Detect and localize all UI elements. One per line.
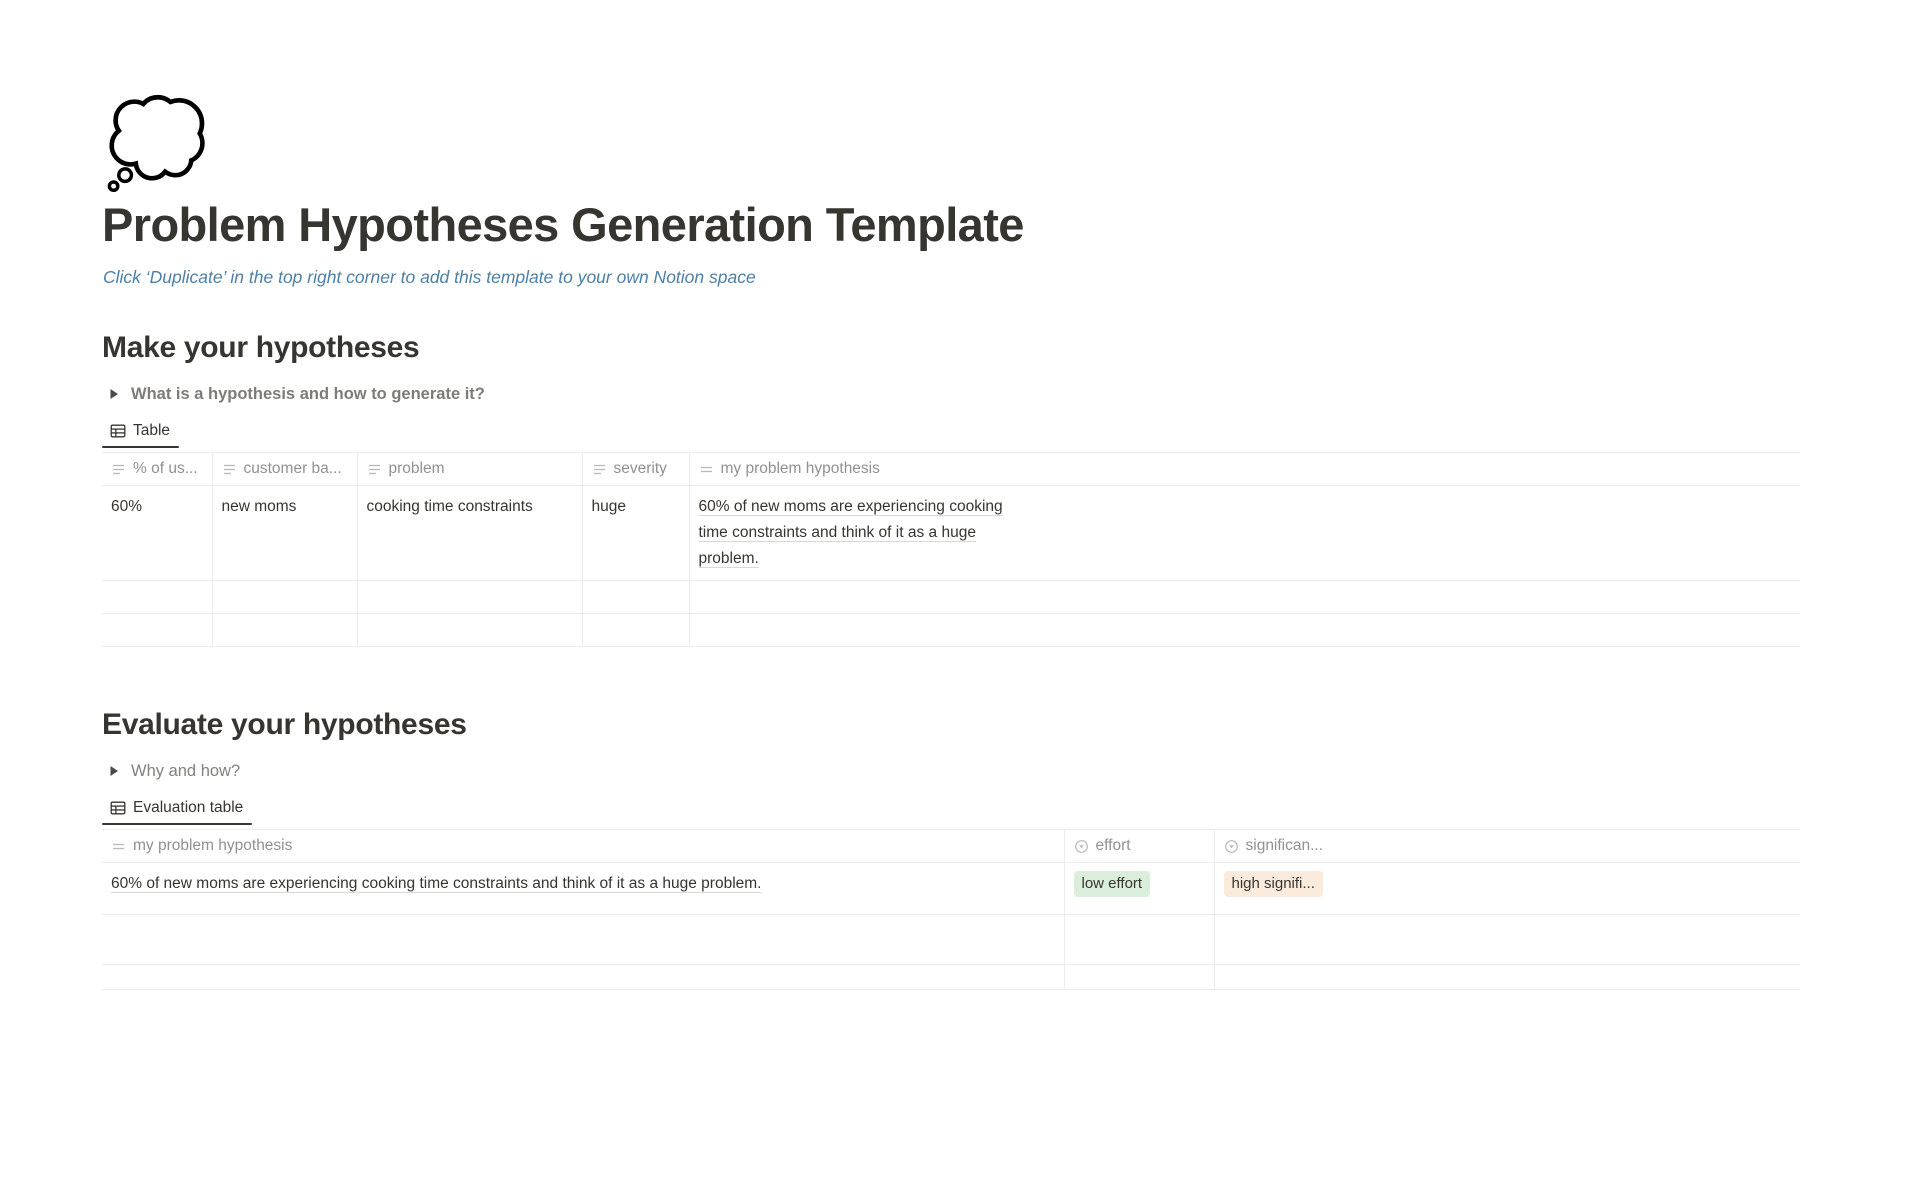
view-tab-label: Table [133, 420, 170, 442]
cell-problem[interactable] [357, 614, 582, 647]
toggle-label: Why and how? [131, 759, 240, 783]
view-tab-label: Evaluation table [133, 797, 243, 819]
database-view-tabs[interactable]: Table [102, 418, 179, 450]
toggle-label: What is a hypothesis and how to generate… [131, 382, 485, 406]
table-header-row: % of us... custom [102, 453, 1800, 486]
cell-percent-of-users[interactable] [102, 581, 212, 614]
cell-percent-of-users[interactable] [102, 614, 212, 647]
text-property-icon [367, 462, 382, 477]
cell-effort[interactable]: low effort [1064, 863, 1214, 915]
cell-percent-of-users[interactable]: 60% [102, 486, 212, 581]
column-header-label: my problem hypothesis [133, 836, 292, 856]
hypothesis-text: 60% of new moms are experiencing cooking… [111, 875, 762, 892]
toggle-why-and-how[interactable]: Why and how? [107, 758, 240, 784]
cell-effort[interactable] [1064, 915, 1214, 965]
column-header-label: my problem hypothesis [721, 459, 880, 479]
view-tab-evaluation-table[interactable]: Evaluation table [102, 795, 252, 821]
column-header-percent-of-users[interactable]: % of us... [102, 453, 212, 486]
cell-customer-base[interactable] [212, 614, 357, 647]
column-header-label: severity [614, 459, 667, 479]
evaluation-table: my problem hypothesis effort [102, 829, 1800, 990]
cell-severity[interactable] [582, 614, 689, 647]
column-header-label: significan... [1246, 836, 1324, 856]
notion-page: 💭 Problem Hypotheses Generation Template… [0, 0, 1920, 1199]
table-row[interactable] [102, 915, 1800, 965]
column-header-customer-base[interactable]: customer ba... [212, 453, 357, 486]
text-property-icon [222, 462, 237, 477]
cell-significance[interactable] [1214, 965, 1800, 990]
table-row[interactable]: 60% of new moms are experiencing cooking… [102, 863, 1800, 915]
cell-my-problem-hypothesis[interactable] [102, 915, 1064, 965]
cell-customer-base[interactable] [212, 581, 357, 614]
column-header-significance[interactable]: significan... [1214, 830, 1800, 863]
cell-significance[interactable] [1214, 915, 1800, 965]
column-header-label: problem [389, 459, 445, 479]
column-header-severity[interactable]: severity [582, 453, 689, 486]
cell-my-problem-hypothesis[interactable]: 60% of new moms are experiencing cooking… [102, 863, 1064, 915]
table-row[interactable] [102, 581, 1800, 614]
text-property-icon [592, 462, 607, 477]
section-heading-make-hypotheses[interactable]: Make your hypotheses [102, 329, 419, 367]
cell-customer-base[interactable]: new moms [212, 486, 357, 581]
cell-severity[interactable] [582, 581, 689, 614]
table-row[interactable] [102, 614, 1800, 647]
cell-my-problem-hypothesis[interactable] [102, 965, 1064, 990]
cell-my-problem-hypothesis[interactable] [689, 614, 1800, 647]
table-grid-icon [110, 800, 126, 816]
formula-property-icon [111, 839, 126, 854]
column-header-label: customer ba... [244, 459, 342, 479]
column-header-problem[interactable]: problem [357, 453, 582, 486]
text-property-icon [111, 462, 126, 477]
cell-severity[interactable]: huge [582, 486, 689, 581]
column-header-label: % of us... [133, 459, 198, 479]
page-title[interactable]: Problem Hypotheses Generation Template [102, 196, 1024, 253]
formula-property-icon [699, 462, 714, 477]
column-header-my-problem-hypothesis[interactable]: my problem hypothesis [689, 453, 1800, 486]
column-header-effort[interactable]: effort [1064, 830, 1214, 863]
database-view-tabs[interactable]: Evaluation table [102, 795, 252, 827]
table-grid-icon [110, 423, 126, 439]
thought-balloon-emoji-icon[interactable]: 💭 [104, 97, 196, 189]
column-header-label: effort [1096, 836, 1131, 856]
hypothesis-text: 60% of new moms are experiencing cooking… [699, 494, 1019, 572]
table-row[interactable]: 60% new moms cooking time constraints hu… [102, 486, 1800, 581]
triangle-right-icon[interactable] [107, 387, 121, 401]
cell-problem[interactable] [357, 581, 582, 614]
column-header-my-problem-hypothesis[interactable]: my problem hypothesis [102, 830, 1064, 863]
triangle-right-icon[interactable] [107, 764, 121, 778]
cell-problem[interactable]: cooking time constraints [357, 486, 582, 581]
cell-my-problem-hypothesis[interactable]: 60% of new moms are experiencing cooking… [689, 486, 1800, 581]
table-header-row: my problem hypothesis effort [102, 830, 1800, 863]
status-badge-effort: low effort [1074, 871, 1151, 897]
cell-my-problem-hypothesis[interactable] [689, 581, 1800, 614]
status-badge-significance: high signifi... [1224, 871, 1323, 897]
cell-effort[interactable] [1064, 965, 1214, 990]
view-tab-table[interactable]: Table [102, 418, 179, 444]
cell-significance[interactable]: high signifi... [1214, 863, 1800, 915]
section-heading-evaluate-hypotheses[interactable]: Evaluate your hypotheses [102, 706, 467, 744]
toggle-what-is-a-hypothesis[interactable]: What is a hypothesis and how to generate… [107, 381, 485, 407]
table-row[interactable] [102, 965, 1800, 990]
select-property-icon [1224, 839, 1239, 854]
hypotheses-table: % of us... custom [102, 452, 1800, 647]
select-property-icon [1074, 839, 1089, 854]
page-subtitle: Click ‘Duplicate’ in the top right corne… [103, 264, 756, 290]
